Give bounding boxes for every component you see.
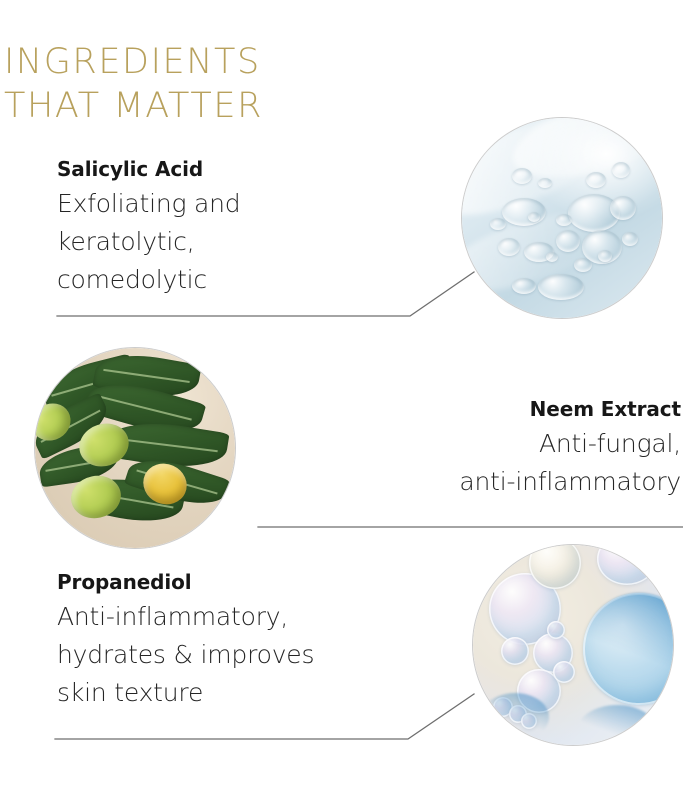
ingredient-name: Salicylic Acid (57, 155, 387, 183)
ingredient-description: Exfoliating and keratolytic, comedolytic (57, 185, 387, 299)
gel-texture (462, 118, 662, 318)
ingredient-block-salicylic-acid: Salicylic Acid Exfoliating and keratolyt… (57, 155, 387, 299)
ingredients-poster: INGREDIENTS THAT MATTER (0, 0, 683, 800)
ingredient-description: Anti-inflammatory, hydrates & improves s… (57, 598, 417, 712)
page-title: INGREDIENTS THAT MATTER (4, 40, 424, 128)
ingredient-block-propanediol: Propanediol Anti-inflammatory, hydrates … (57, 568, 417, 712)
ingredient-description: Anti-fungal, anti-inflammatory (281, 425, 681, 501)
oil-bubbles-texture (473, 545, 673, 745)
ingredient-name: Neem Extract (281, 395, 681, 423)
ingredient-image-neem-extract (35, 348, 235, 548)
neem-leaves-texture (35, 348, 235, 548)
ingredient-name: Propanediol (57, 568, 417, 596)
ingredient-image-propanediol (473, 545, 673, 745)
ingredient-image-salicylic-acid (462, 118, 662, 318)
ingredient-block-neem-extract: Neem Extract Anti-fungal, anti-inflammat… (281, 395, 681, 501)
